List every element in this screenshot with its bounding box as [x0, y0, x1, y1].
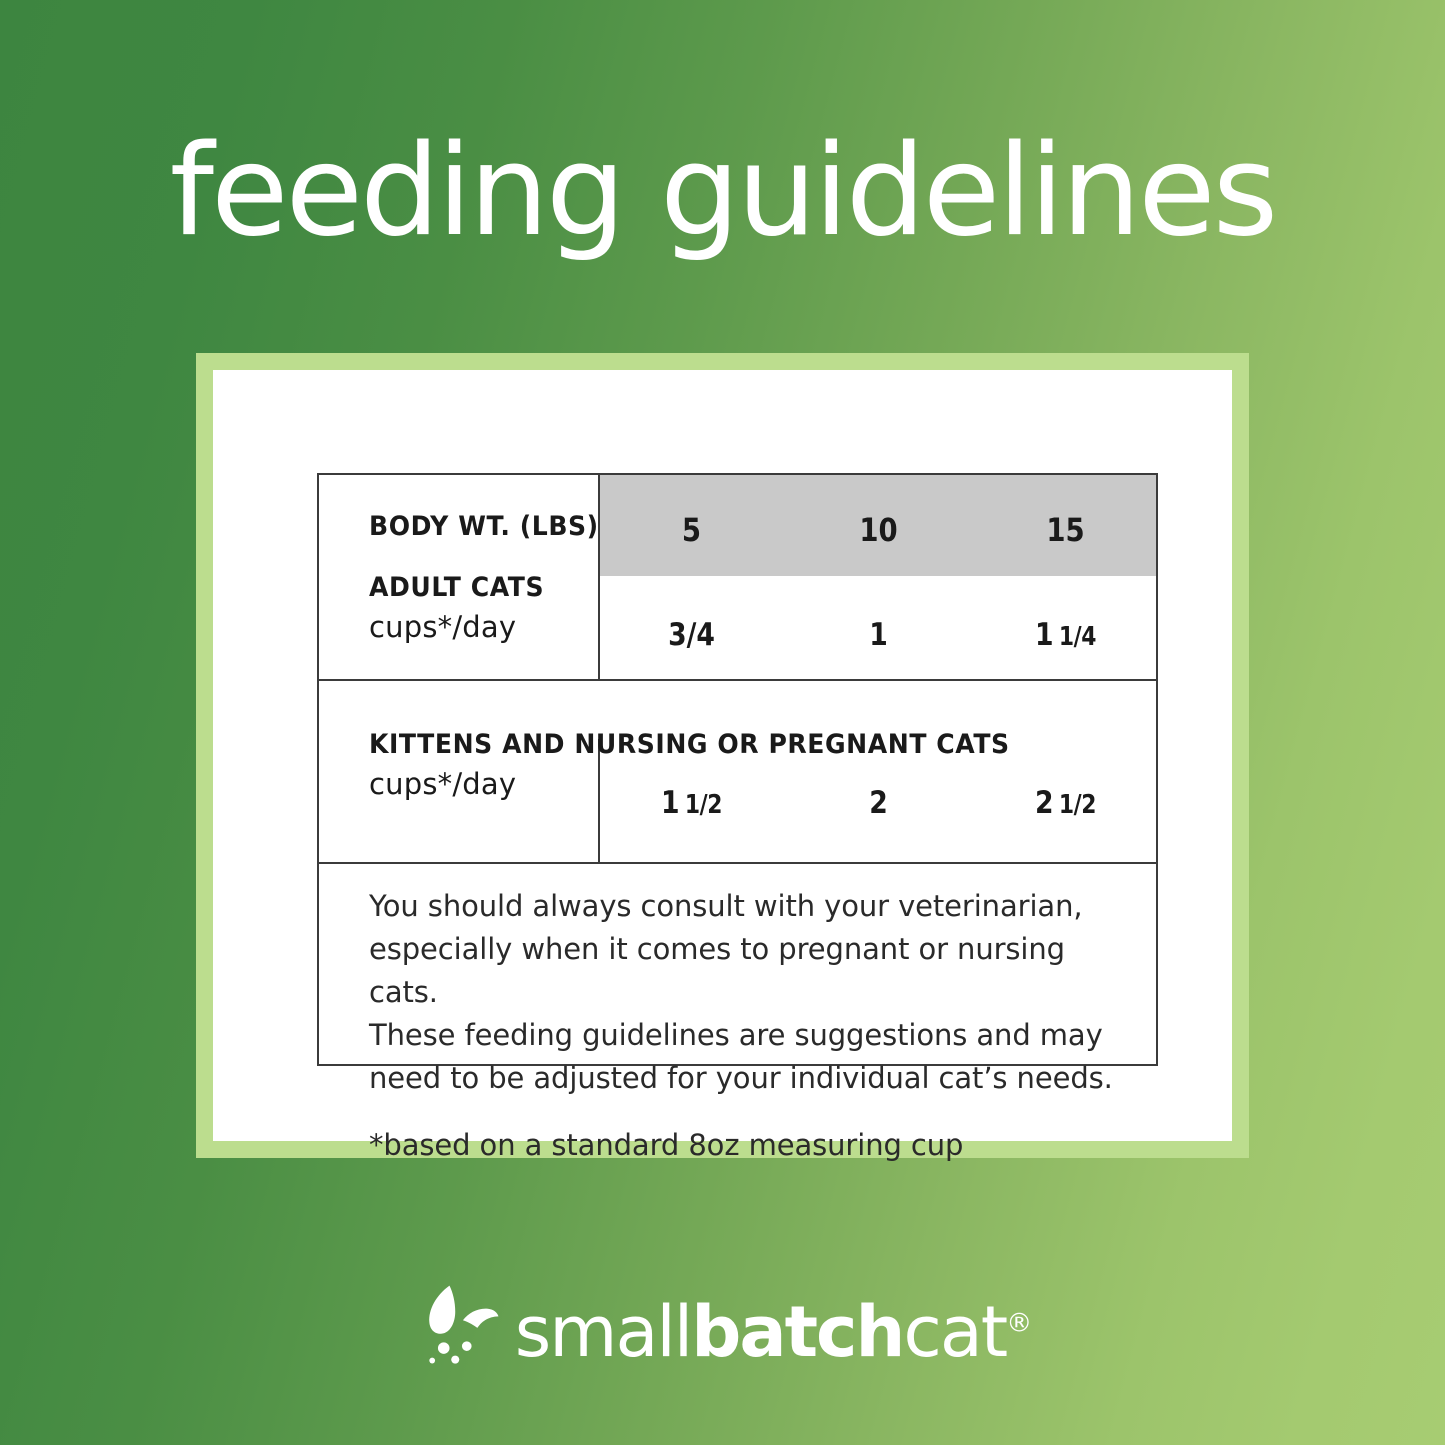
registered-trademark-icon: ®: [1006, 1309, 1032, 1339]
page-title-part2: guidelines: [660, 117, 1275, 264]
kitten-amount-1-whole: 1: [661, 785, 680, 821]
weight-value-3: 15: [985, 511, 1146, 549]
adult-amount-2: 1: [798, 617, 959, 653]
kitten-amount-2-whole: 2: [869, 785, 888, 821]
table-horizontal-divider-2: [319, 862, 1156, 864]
note-line-2: especially when it comes to pregnant or …: [369, 928, 1136, 1014]
note-line-1: You should always consult with your vete…: [369, 885, 1136, 928]
weight-value-2: 10: [798, 511, 959, 549]
brand-logo: smallbatchcat®: [0, 1266, 1445, 1386]
card-frame: BODY WT. (LBS) ADULT CATS cups*/day KITT…: [196, 353, 1249, 1158]
row-unit-kittens: cups*/day: [369, 767, 516, 801]
kitten-amount-3: 2 1/2: [985, 785, 1146, 821]
kitten-amount-3-whole: 2: [1035, 785, 1054, 821]
kitten-amount-3-frac: 1/2: [1059, 789, 1096, 819]
note-footnote: *based on a standard 8oz measuring cup: [369, 1124, 1136, 1167]
note-line-3: These feeding guidelines are suggestions…: [369, 1014, 1136, 1057]
disclaimer-note: You should always consult with your vete…: [369, 885, 1136, 1167]
note-line-4: need to be adjusted for your individual …: [369, 1057, 1136, 1100]
row-label-body-weight: BODY WT. (LBS): [369, 511, 599, 542]
brand-word-cat: cat: [903, 1291, 1006, 1373]
adult-amount-3-whole: 1: [1035, 617, 1054, 653]
brand-word-small: small: [515, 1291, 691, 1373]
adult-amount-1-whole: 3/4: [668, 617, 715, 653]
kitten-amount-1: 1 1/2: [611, 785, 772, 821]
row-label-kittens: KITTENS AND NURSING OR PREGNANT CATS: [369, 729, 1010, 760]
card: BODY WT. (LBS) ADULT CATS cups*/day KITT…: [213, 370, 1232, 1141]
adult-amount-1: 3/4: [611, 617, 772, 653]
table-vertical-divider-top: [598, 475, 600, 681]
row-label-adult-cats: ADULT CATS: [369, 572, 544, 603]
table-horizontal-divider-1: [319, 679, 1156, 681]
adult-amount-2-whole: 1: [869, 617, 888, 653]
feeding-guidelines-poster: feeding guidelines BODY WT. (LBS) ADULT …: [0, 0, 1445, 1445]
brand-word-batch: batch: [691, 1291, 903, 1373]
brand-wordmark: smallbatchcat®: [515, 1297, 1032, 1367]
adult-amount-3-frac: 1/4: [1059, 621, 1096, 651]
feeding-table: BODY WT. (LBS) ADULT CATS cups*/day KITT…: [317, 473, 1158, 1066]
kitten-amount-1-frac: 1/2: [685, 789, 722, 819]
leaf-and-bird-mark: [413, 1278, 509, 1374]
row-unit-adult-cats: cups*/day: [369, 610, 516, 644]
adult-amount-3: 1 1/4: [985, 617, 1146, 653]
weight-value-1: 5: [611, 511, 772, 549]
page-title: feeding guidelines: [0, 128, 1445, 254]
kitten-amount-2: 2: [798, 785, 959, 821]
page-title-part1: feeding: [170, 117, 660, 264]
